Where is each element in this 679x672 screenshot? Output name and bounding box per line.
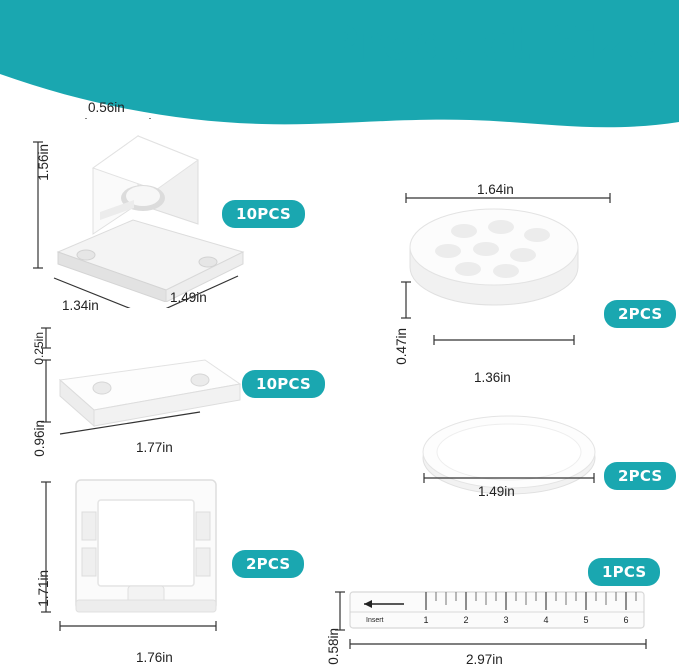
badge-flat-plate: 10PCS (242, 370, 325, 398)
header-decoration-lines (487, 88, 657, 113)
page-title: Product Size (325, 16, 657, 70)
badge-round-lid: 2PCS (604, 462, 676, 490)
badge-round-cap: 2PCS (604, 300, 676, 328)
dim-lines-round-cap (388, 190, 618, 380)
dim-lines-square-frame (30, 470, 250, 650)
badge-corner-latch: 10PCS (222, 200, 305, 228)
dim-square-frame-width: 1.76in (136, 650, 173, 665)
dim-lines-round-lid (414, 468, 614, 498)
badge-square-frame: 2PCS (232, 550, 304, 578)
badge-ruler: 1PCS (588, 558, 660, 586)
dim-lines-ruler (326, 586, 656, 656)
dim-corner-latch-top: 0.56in (88, 100, 125, 115)
dim-lines-flat-plate (30, 322, 260, 452)
